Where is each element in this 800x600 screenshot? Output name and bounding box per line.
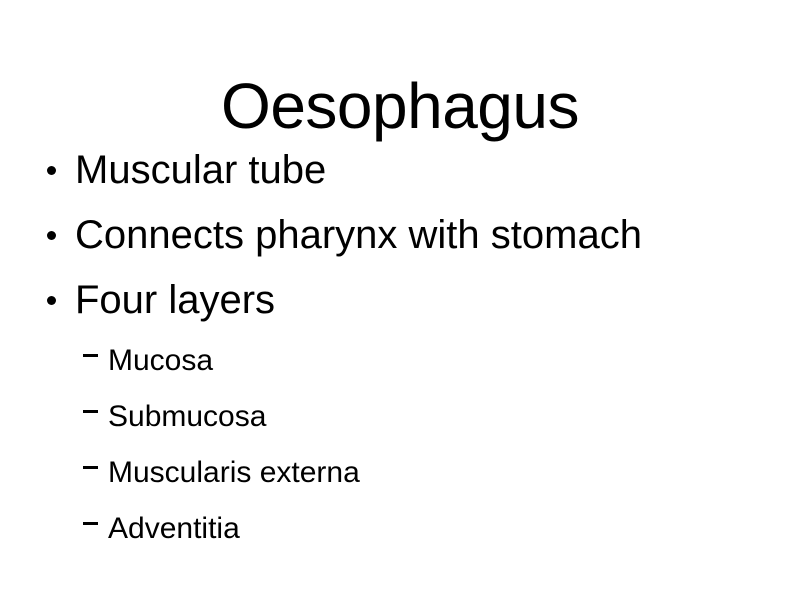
slide-body: Muscular tube Connects pharynx with stom… bbox=[0, 138, 800, 557]
bullet-item-muscular-tube: Muscular tube bbox=[0, 138, 800, 203]
bullet-dash-icon bbox=[83, 410, 98, 413]
bullet-dash-icon bbox=[83, 466, 98, 469]
sub-bullet-item-submucosa: Submucosa bbox=[0, 389, 800, 445]
sub-bullet-item-label: Mucosa bbox=[108, 344, 213, 377]
sub-bullet-item-mucosa: Mucosa bbox=[0, 333, 800, 389]
sub-bullet-item-label: Adventitia bbox=[108, 512, 240, 545]
sub-bullet-item-label: Submucosa bbox=[108, 400, 266, 433]
outline-list-level2: Mucosa Submucosa Muscularis externa Adve… bbox=[0, 333, 800, 557]
bullet-dash-icon bbox=[83, 522, 98, 525]
bullet-item-four-layers: Four layers bbox=[0, 268, 800, 333]
bullet-dot-icon bbox=[47, 296, 56, 305]
bullet-dash-icon bbox=[83, 354, 98, 357]
outline-list-level1: Muscular tube Connects pharynx with stom… bbox=[0, 138, 800, 557]
bullet-item-label: Connects pharynx with stomach bbox=[75, 213, 642, 257]
sub-bullet-item-muscularis-externa: Muscularis externa bbox=[0, 445, 800, 501]
bullet-dot-icon bbox=[47, 166, 56, 175]
presentation-slide: Oesophagus Muscular tube Connects pharyn… bbox=[0, 0, 800, 600]
bullet-item-label: Muscular tube bbox=[75, 148, 326, 192]
bullet-item-connects-pharynx-with-stomach: Connects pharynx with stomach bbox=[0, 203, 800, 268]
slide-title: Oesophagus bbox=[0, 73, 800, 140]
sub-bullet-item-adventitia: Adventitia bbox=[0, 501, 800, 557]
sub-bullet-item-label: Muscularis externa bbox=[108, 456, 360, 489]
bullet-item-label: Four layers bbox=[75, 278, 275, 322]
bullet-dot-icon bbox=[47, 231, 56, 240]
outline-sublist-container: Mucosa Submucosa Muscularis externa Adve… bbox=[0, 333, 800, 557]
